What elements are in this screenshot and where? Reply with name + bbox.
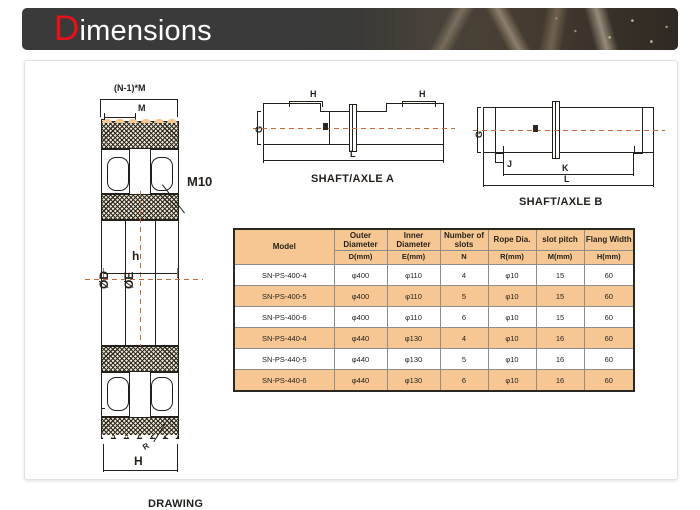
unit-rope-dia: R(mm) (488, 251, 536, 265)
table-row: SN-PS-440-6 φ440 φ130 6 φ10 16 60 (234, 370, 634, 392)
ext-line-pitch-total-right (177, 99, 178, 117)
col-header-inner-diameter: Inner Diameter (387, 229, 440, 251)
cell-outer: φ440 (334, 328, 387, 349)
col-header-slot-pitch: slot pitch (536, 229, 584, 251)
cell-pitch: 15 (536, 265, 584, 286)
cell-slots: 4 (440, 265, 488, 286)
cell-model: SN-PS-440-5 (234, 349, 334, 370)
cell-outer: φ400 (334, 265, 387, 286)
cell-pitch: 15 (536, 286, 584, 307)
arrow-shaft-b-g-bottom (477, 152, 481, 153)
dim-line-hub-width (103, 273, 177, 274)
wheel-lower-bore-right (151, 377, 173, 411)
col-header-outer-diameter: Outer Diameter (334, 229, 387, 251)
shaft-a-left-step (263, 103, 321, 112)
label-flange-width: H (134, 454, 143, 468)
shaft-a-keyway-mark (323, 123, 328, 130)
label-inner-diameter: ØE (122, 272, 136, 289)
label-rope-radius: R (141, 441, 151, 452)
unit-number-of-slots: N (440, 251, 488, 265)
shaft-b-centerline (473, 130, 665, 131)
wheel-lower-bore-left (107, 377, 129, 411)
label-pitch-single: M (138, 103, 146, 113)
col-header-number-of-slots-line2: slots (455, 240, 474, 249)
wheel-upper-hub-wall (129, 149, 151, 194)
cell-flange: 60 (584, 286, 634, 307)
ext-line-flange-width-left (103, 444, 104, 472)
dim-line-outer-dia (101, 119, 102, 409)
table-row: SN-PS-400-5 φ400 φ110 5 φ10 15 60 (234, 286, 634, 307)
ext-shaft-b-length-left (483, 153, 484, 187)
dim-line-shaft-a-length (263, 160, 444, 161)
table-row: SN-PS-440-5 φ440 φ130 5 φ10 16 60 (234, 349, 634, 370)
cell-model: SN-PS-400-4 (234, 265, 334, 286)
label-hub-width: h (132, 249, 139, 263)
cell-rope: φ10 (488, 349, 536, 370)
unit-inner-diameter: E(mm) (387, 251, 440, 265)
label-shaft-b-length: L (564, 174, 570, 184)
cell-rope: φ10 (488, 286, 536, 307)
label-shaft-a-length: L (350, 149, 356, 159)
label-m10-thread: M10 (187, 174, 212, 189)
wheel-lower-hub-wall (129, 372, 151, 417)
table-row: SN-PS-400-6 φ400 φ110 6 φ10 15 60 (234, 307, 634, 328)
cell-outer: φ400 (334, 307, 387, 328)
cell-rope: φ10 (488, 328, 536, 349)
wheel-upper-groove-scallops (101, 118, 179, 123)
dim-line-shaft-a-left-step (289, 101, 323, 102)
ext-shaft-a-length-left (263, 145, 264, 163)
wheel-bore-wall-right (155, 220, 156, 346)
cell-model: SN-PS-400-6 (234, 307, 334, 328)
label-outer-diameter: ØD (97, 271, 111, 289)
cell-slots: 6 (440, 370, 488, 392)
ext-shaft-a-left-step-2 (322, 101, 323, 107)
shaft-a-centerline (253, 128, 455, 129)
cell-inner: φ110 (387, 307, 440, 328)
shaft-b-keyway-mark (533, 125, 538, 132)
ext-line-hub-width-right (177, 268, 178, 278)
shaft-b-caption: SHAFT/AXLE B (519, 196, 603, 208)
arrow-shaft-b-g-top (477, 107, 481, 108)
table-header-row-1: Model Outer Diameter Inner Diameter Numb… (234, 229, 634, 251)
wheel-lower-mid-tread (101, 346, 179, 372)
table-body: SN-PS-400-4 φ400 φ110 4 φ10 15 60 SN-PS-… (234, 265, 634, 392)
page-title-rest: imensions (79, 15, 211, 47)
col-header-outer-diameter-line2: Diameter (343, 240, 377, 249)
ext-shaft-a-right-step-2 (435, 101, 436, 107)
ext-shaft-b-length-right (653, 153, 654, 187)
page-header-banner: Dimensions (22, 8, 678, 50)
ext-shaft-b-k-left (503, 162, 504, 176)
cell-outer: φ440 (334, 349, 387, 370)
wheel-upper-tread (101, 121, 179, 149)
arrow-oe-bottom (125, 346, 129, 347)
cell-flange: 60 (584, 307, 634, 328)
col-header-outer-diameter-line1: Outer (350, 231, 371, 240)
cell-slots: 4 (440, 328, 488, 349)
col-header-inner-diameter-line1: Inner (404, 231, 424, 240)
dim-line-shaft-a-right-step (402, 101, 436, 102)
arrow-oe-top (125, 219, 129, 220)
label-shaft-a-diameter: G (254, 126, 264, 133)
col-header-number-of-slots-line1: Number of (444, 231, 484, 240)
ext-shaft-a-length-right (443, 145, 444, 163)
page-title: Dimensions (54, 11, 212, 48)
arrow-od-bottom (101, 408, 105, 409)
cell-slots: 5 (440, 349, 488, 370)
col-header-model: Model (234, 229, 334, 265)
shaft-a-caption: SHAFT/AXLE A (311, 173, 394, 185)
ext-shaft-b-k-right (633, 153, 634, 176)
ext-shaft-a-left-step-1 (289, 101, 290, 107)
dim-line-shaft-b-length (483, 185, 654, 186)
cell-outer: φ400 (334, 286, 387, 307)
table-header: Model Outer Diameter Inner Diameter Numb… (234, 229, 634, 265)
cell-rope: φ10 (488, 307, 536, 328)
col-header-rope-dia: Rope Dia. (488, 229, 536, 251)
cell-flange: 60 (584, 328, 634, 349)
cell-flange: 60 (584, 265, 634, 286)
cell-inner: φ110 (387, 286, 440, 307)
cell-model: SN-PS-440-4 (234, 328, 334, 349)
col-header-flang-width: Flang Width (584, 229, 634, 251)
label-pitch-total: (N-1)*M (114, 83, 146, 93)
label-shaft-b-inner-length: K (562, 163, 569, 173)
cell-inner: φ130 (387, 370, 440, 392)
ext-line-pitch-total-left (100, 99, 101, 117)
label-shaft-b-diameter: G (474, 131, 484, 138)
unit-outer-diameter: D(mm) (334, 251, 387, 265)
table-row: SN-PS-400-4 φ400 φ110 4 φ10 15 60 (234, 265, 634, 286)
label-shaft-b-groove: J (507, 159, 512, 169)
page-title-initial: D (54, 9, 79, 48)
cell-inner: φ130 (387, 328, 440, 349)
cell-model: SN-PS-400-5 (234, 286, 334, 307)
dimensions-page: Dimensions (N-1)*M M (0, 0, 700, 500)
cell-slots: 6 (440, 307, 488, 328)
arrow-od-top (101, 119, 105, 120)
specifications-table: Model Outer Diameter Inner Diameter Numb… (233, 228, 635, 392)
wheel-upper-bore-left (107, 157, 129, 191)
cell-outer: φ440 (334, 370, 387, 392)
label-shaft-a-right-step: H (419, 89, 426, 99)
dim-line-pitch-total (100, 99, 178, 100)
unit-slot-pitch: M(mm) (536, 251, 584, 265)
shaft-b-groove-right-base (634, 153, 643, 154)
cell-pitch: 16 (536, 328, 584, 349)
cell-inner: φ130 (387, 349, 440, 370)
cell-model: SN-PS-440-6 (234, 370, 334, 392)
cell-flange: 60 (584, 370, 634, 392)
dim-line-flange-width (103, 470, 177, 471)
label-shaft-a-left-step: H (310, 89, 317, 99)
banner-background-photo (298, 8, 678, 50)
cell-pitch: 15 (536, 307, 584, 328)
arrow-shaft-a-g-top (257, 111, 261, 112)
cell-flange: 60 (584, 349, 634, 370)
cell-pitch: 16 (536, 370, 584, 392)
ext-shaft-a-right-step-1 (402, 101, 403, 107)
cell-pitch: 16 (536, 349, 584, 370)
cell-rope: φ10 (488, 265, 536, 286)
ext-line-flange-width-right (177, 444, 178, 472)
arrow-shaft-a-g-bottom (257, 144, 261, 145)
cell-inner: φ110 (387, 265, 440, 286)
col-header-inner-diameter-line2: Diameter (396, 240, 430, 249)
cell-rope: φ10 (488, 370, 536, 392)
cell-slots: 5 (440, 286, 488, 307)
table-row: SN-PS-440-4 φ440 φ130 4 φ10 16 60 (234, 328, 634, 349)
unit-flang-width: H(mm) (584, 251, 634, 265)
col-header-number-of-slots: Number of slots (440, 229, 488, 251)
wheel-lower-groove-scallops (101, 435, 179, 441)
